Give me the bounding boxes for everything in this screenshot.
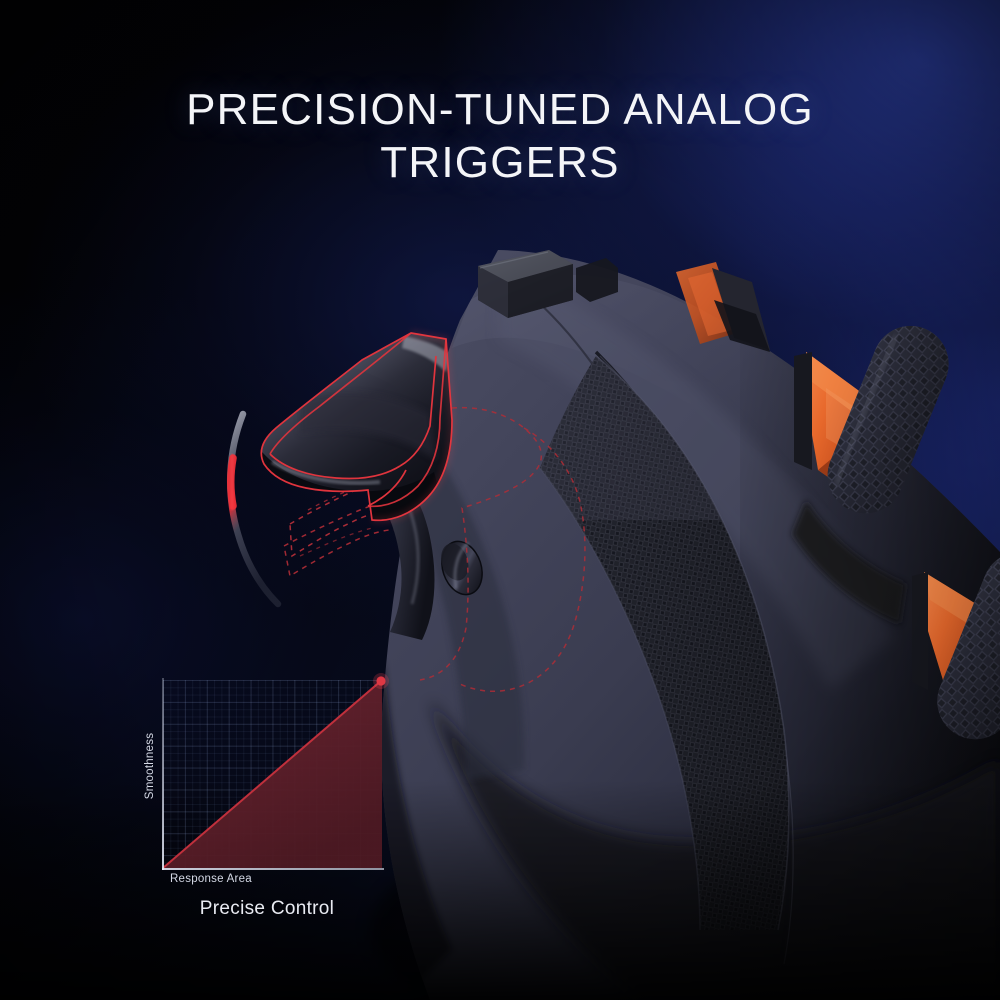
promo-hero: PRECISION-TUNED ANALOG TRIGGERS	[0, 0, 1000, 1000]
chart-x-axis-label: Response Area	[170, 873, 252, 885]
chart-plot-area	[163, 680, 382, 868]
chart-marker-layer	[163, 680, 382, 868]
chart-y-axis	[162, 678, 164, 870]
chart-caption: Precise Control	[132, 898, 402, 920]
chart-y-axis-label: Smoothness	[144, 720, 156, 812]
chart-x-axis	[162, 868, 384, 870]
precise-control-chart: Smoothness Response Area Precise Control	[132, 668, 402, 918]
